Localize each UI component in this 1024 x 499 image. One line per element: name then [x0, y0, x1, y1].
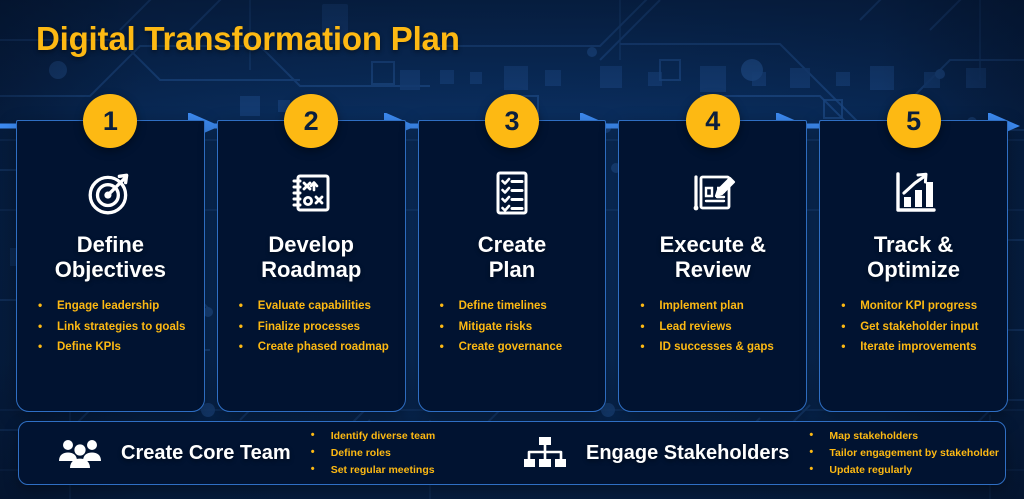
supporting-activities-bar: Create Core Team Identify diverse team D…: [18, 421, 1006, 485]
bullet-item: Engage leadership: [35, 296, 196, 316]
bullet-item: Tailor engagement by stakeholder: [805, 445, 999, 462]
org-chart-icon: [518, 436, 572, 470]
bullet-item: Create phased roadmap: [236, 337, 397, 357]
bullet-item: Define KPIs: [35, 337, 196, 357]
step-bullets-5: Monitor KPI progress Get stakeholder inp…: [828, 296, 999, 357]
bullet-item: Monitor KPI progress: [838, 296, 999, 316]
step-bullets-2: Evaluate capabilities Finalize processes…: [226, 296, 397, 357]
step-number-badge-5: 5: [887, 94, 941, 148]
bullet-item: ID successes & gaps: [637, 337, 798, 357]
step-number-badge-3: 3: [485, 94, 539, 148]
step-title-4: Execute & Review: [660, 233, 766, 282]
step-title-5: Track & Optimize: [867, 233, 960, 282]
bullet-item: Implement plan: [637, 296, 798, 316]
step-bullets-3: Define timelines Mitigate risks Create g…: [427, 296, 598, 357]
step-card-2[interactable]: 2 Develop Roadmap Evaluate capabilities …: [217, 120, 406, 412]
strategy-playbook-icon: [289, 167, 333, 219]
bullet-item: Finalize processes: [236, 317, 397, 337]
bullet-item: Link strategies to goals: [35, 317, 196, 337]
bullet-item: Set regular meetings: [307, 462, 435, 479]
bottom-group-create-core-team[interactable]: Create Core Team Identify diverse team D…: [19, 422, 500, 484]
bottom-bullets-create-core-team: Identify diverse team Define roles Set r…: [307, 428, 435, 479]
bottom-bullets-engage-stakeholders: Map stakeholders Tailor engagement by st…: [805, 428, 999, 479]
bar-chart-growth-icon: [891, 167, 937, 219]
step-title-3: Create Plan: [478, 233, 546, 282]
step-card-5[interactable]: 5 Track & Optimize Monitor KPI progress …: [819, 120, 1008, 412]
people-group-icon: [53, 437, 107, 469]
bullet-item: Define timelines: [437, 296, 598, 316]
infographic-canvas: Digital Transformation Plan 1: [0, 0, 1024, 499]
bullet-item: Create governance: [437, 337, 598, 357]
step-number-badge-1: 1: [83, 94, 137, 148]
bullet-item: Mitigate risks: [437, 317, 598, 337]
step-card-3[interactable]: 3 C: [418, 120, 607, 412]
step-title-1: Define Objectives: [55, 233, 166, 282]
step-bullets-1: Engage leadership Link strategies to goa…: [25, 296, 196, 357]
bottom-label-create-core-team: Create Core Team: [121, 442, 291, 465]
step-title-2: Develop Roadmap: [261, 233, 361, 282]
bullet-item: Evaluate capabilities: [236, 296, 397, 316]
bullet-item: Identify diverse team: [307, 428, 435, 445]
bullet-item: Lead reviews: [637, 317, 798, 337]
checklist-icon: [492, 167, 532, 219]
step-card-1[interactable]: 1 Define Objectives Engage leadership Li…: [16, 120, 205, 412]
bullet-item: Define roles: [307, 445, 435, 462]
step-number-badge-2: 2: [284, 94, 338, 148]
page-title: Digital Transformation Plan: [36, 20, 460, 58]
bullet-item: Get stakeholder input: [838, 317, 999, 337]
process-steps-row: 1 Define Objectives Engage leadership Li…: [16, 120, 1008, 412]
target-icon: [85, 167, 135, 219]
blueprint-pencil-icon: [688, 167, 738, 219]
bullet-item: Map stakeholders: [805, 428, 999, 445]
bottom-group-engage-stakeholders[interactable]: Engage Stakeholders Map stakeholders Tai…: [500, 422, 1005, 484]
bullet-item: Iterate improvements: [838, 337, 999, 357]
bottom-label-engage-stakeholders: Engage Stakeholders: [586, 442, 789, 465]
step-number-badge-4: 4: [686, 94, 740, 148]
bullet-item: Update regularly: [805, 462, 999, 479]
step-bullets-4: Implement plan Lead reviews ID successes…: [627, 296, 798, 357]
step-card-4[interactable]: 4 Execute & Review Implement plan Lead r…: [618, 120, 807, 412]
